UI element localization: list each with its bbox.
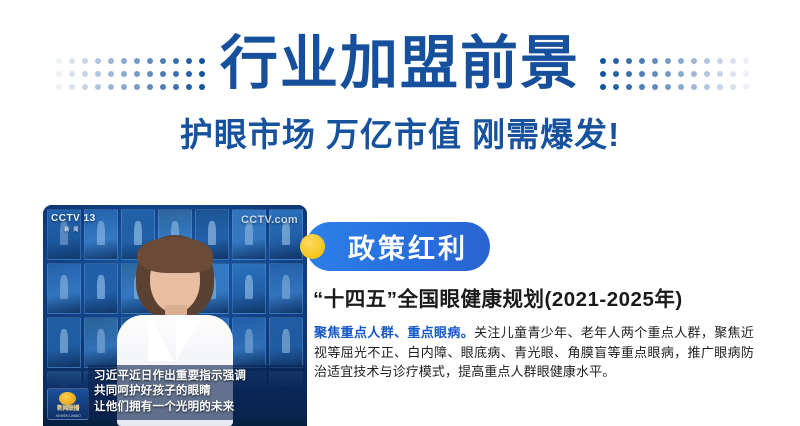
header-banner: 行业加盟前景 护眼市场 万亿市值 刚需爆发!	[0, 0, 800, 175]
caption-line-2: 共同呵护好孩子的眼睛	[94, 384, 301, 400]
badge-dot-icon	[300, 234, 325, 259]
cctv-bug-number: 13	[84, 213, 96, 224]
cctv-bug-brand: CCTV	[51, 213, 80, 224]
broadcast-caption: 习近平近日作出重要指示强调 共同呵护好孩子的眼睛 让他们拥有一个光明的未来	[88, 365, 307, 421]
program-logo-sublabel: XINWEN LIANBO	[48, 414, 88, 418]
caption-line-3: 让他们拥有一个光明的未来	[94, 400, 301, 416]
policy-dividend-badge-label: 政策红利	[348, 227, 468, 266]
anchor-hair-front	[137, 237, 213, 273]
cctv-bug-subtitle: 新闻	[51, 225, 96, 236]
plan-title: “十四五”全国眼健康规划(2021-2025年)	[313, 286, 683, 314]
anchor-collar-right	[176, 315, 202, 361]
plan-description-highlight: 聚焦重点人群、重点眼病。	[314, 325, 474, 340]
program-logo-badge: 新闻联播 XINWEN LIANBO	[47, 388, 89, 420]
page-subtitle: 护眼市场 万亿市值 刚需爆发!	[0, 113, 800, 157]
cctv-channel-bug-icon: CCTV 13 新闻	[51, 213, 96, 236]
decorative-dot-grid-right	[596, 54, 752, 93]
anchor-collar-left	[148, 315, 174, 361]
news-broadcast-image: CCTV 13 新闻 CCTV.com 新闻联播 XINWEN LIANBO 习…	[43, 205, 307, 426]
cctv-watermark: CCTV.com	[241, 214, 298, 226]
policy-dividend-badge: 政策红利	[306, 222, 490, 271]
program-logo-label: 新闻联播	[48, 403, 88, 412]
plan-description: 聚焦重点人群、重点眼病。关注儿童青少年、老年人两个重点人群，聚焦近视等屈光不正、…	[314, 323, 754, 382]
caption-line-1: 习近平近日作出重要指示强调	[94, 369, 301, 385]
